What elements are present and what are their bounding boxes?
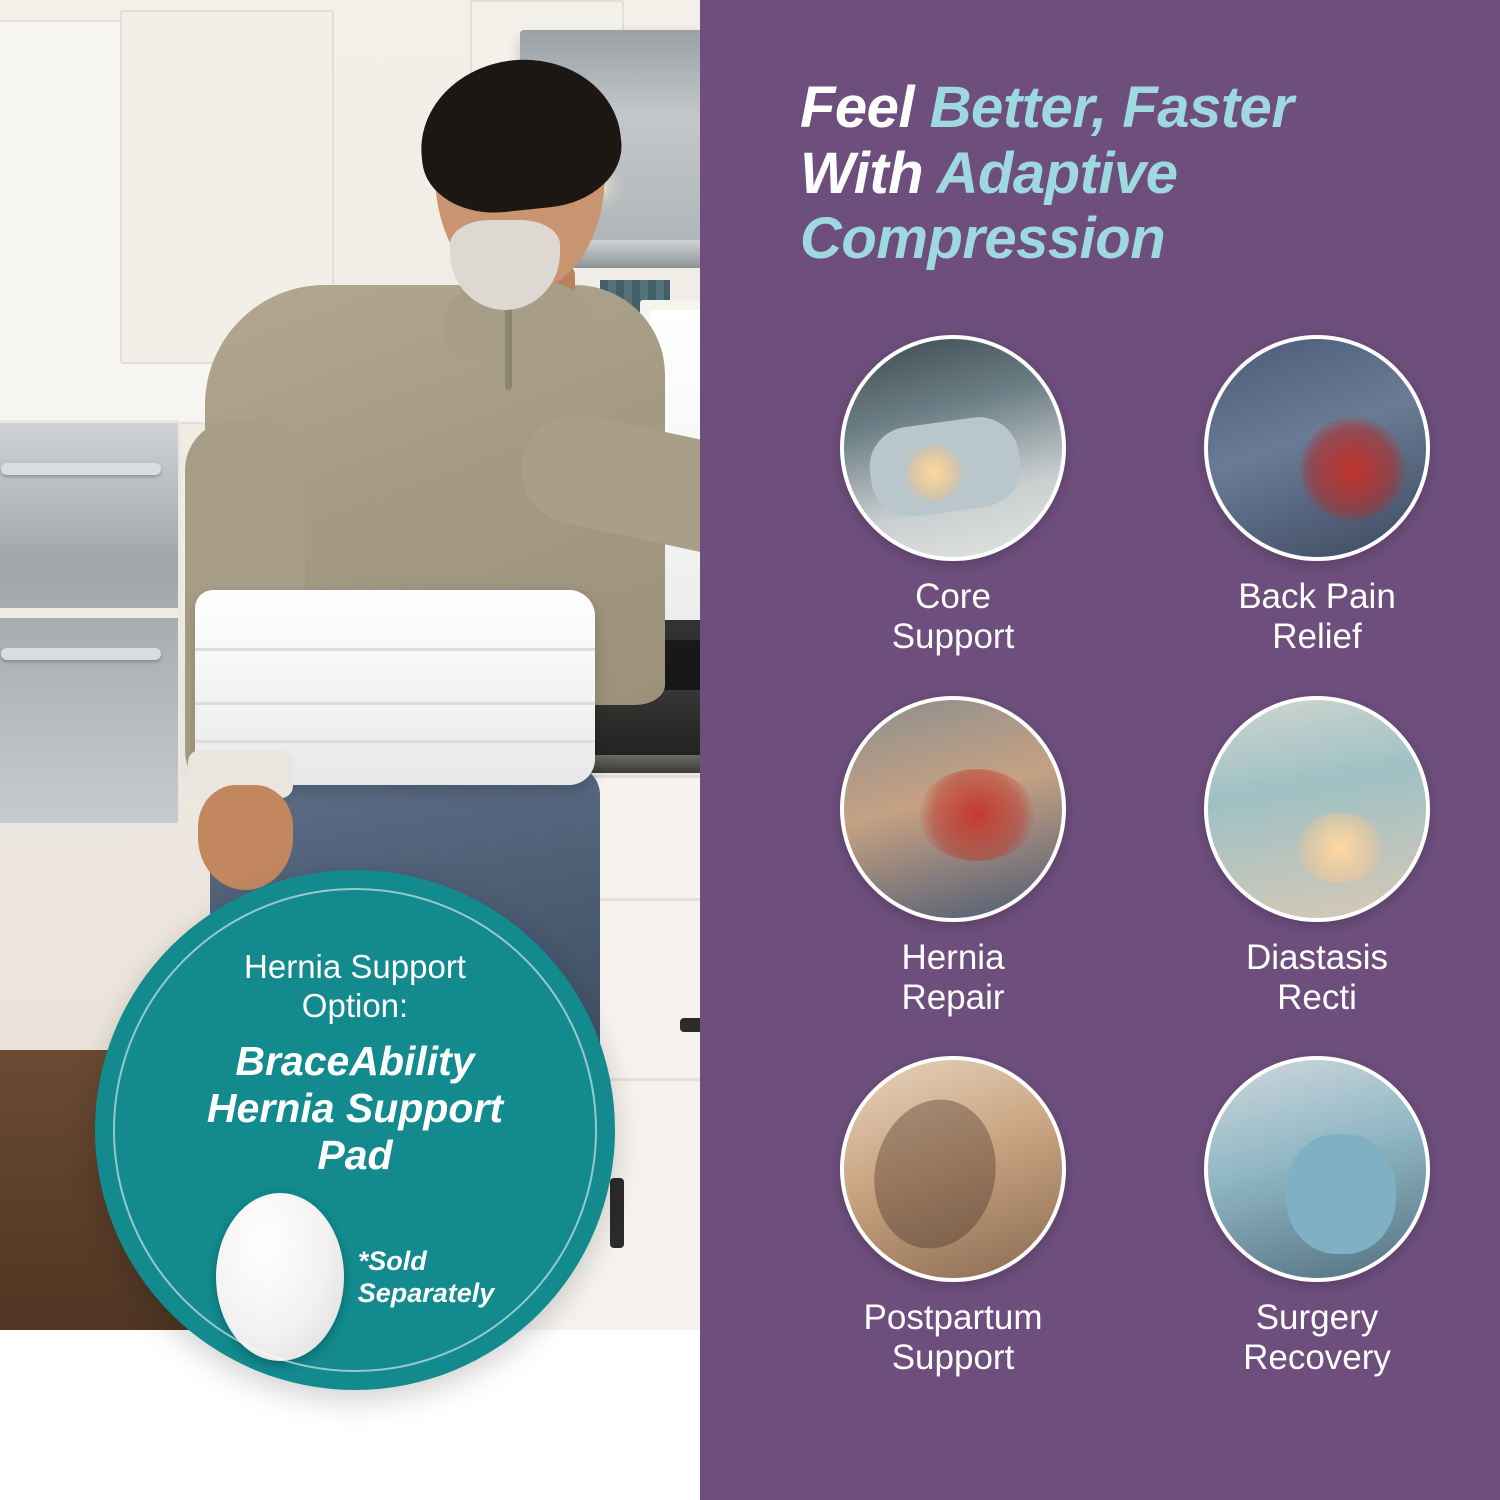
caption-line1: Core [892, 577, 1015, 617]
benefit-core-support: Core Support [790, 335, 1116, 658]
caption-line1: Postpartum [864, 1298, 1043, 1338]
benefit-caption-postpartum-support: Postpartum Support [864, 1298, 1043, 1379]
benefit-image-hernia-repair [840, 696, 1066, 922]
sold-separately-note: *Sold Separately [358, 1245, 495, 1310]
caption-line2: Recti [1246, 978, 1388, 1018]
binder-seam-1 [195, 648, 595, 651]
headline-line-3: Compression [800, 206, 1470, 272]
caption-line1: Surgery [1243, 1298, 1391, 1338]
headline-line-2: With Adaptive [800, 141, 1470, 207]
benefit-image-back-pain-relief [1204, 335, 1430, 561]
product-lifestyle-image: Hernia Support Option: BraceAbility Hern… [0, 0, 1500, 1500]
caption-line1: Hernia [901, 938, 1004, 978]
panel-content: Feel Better, Faster With Adaptive Compre… [700, 0, 1500, 1500]
caption-line1: Back Pain [1238, 577, 1396, 617]
caption-line2: Recovery [1243, 1338, 1391, 1378]
benefit-postpartum-support: Postpartum Support [790, 1056, 1116, 1379]
benefit-caption-hernia-repair: Hernia Repair [901, 938, 1004, 1019]
headline-line2-accent: Adaptive [937, 141, 1178, 206]
headline-line3-accent: Compression [800, 206, 1165, 271]
headline-line-1: Feel Better, Faster [800, 75, 1470, 141]
caption-line2: Support [864, 1338, 1043, 1378]
benefit-surgery-recovery: Surgery Recovery [1154, 1056, 1480, 1379]
benefit-image-diastasis-recti [1204, 696, 1430, 922]
benefit-hernia-repair: Hernia Repair [790, 696, 1116, 1019]
hernia-pad-image [216, 1193, 344, 1361]
caption-line2: Support [892, 617, 1015, 657]
caption-line1: Diastasis [1246, 938, 1388, 978]
benefit-image-postpartum-support [840, 1056, 1066, 1282]
badge-title-line2: Hernia Support [126, 1085, 584, 1132]
caption-line2: Relief [1238, 617, 1396, 657]
benefit-image-core-support [840, 335, 1066, 561]
benefit-caption-surgery-recovery: Surgery Recovery [1243, 1298, 1391, 1379]
headline-line2-plain: With [800, 141, 937, 206]
benefit-caption-diastasis-recti: Diastasis Recti [1246, 938, 1388, 1019]
hernia-pad-badge: Hernia Support Option: BraceAbility Hern… [95, 870, 615, 1390]
badge-title-line3: Pad [126, 1132, 584, 1179]
badge-top-line2: Option: [147, 987, 563, 1026]
model-left-hand [198, 785, 293, 890]
headline-line1-accent: Better, Faster [930, 75, 1294, 140]
benefit-diastasis-recti: Diastasis Recti [1154, 696, 1480, 1019]
headline-line1-plain: Feel [800, 75, 930, 140]
badge-top-line1: Hernia Support [147, 948, 563, 987]
quarter-zip [505, 305, 512, 390]
panel-headline: Feel Better, Faster With Adaptive Compre… [800, 75, 1470, 272]
benefits-panel: Feel Better, Faster With Adaptive Compre… [700, 0, 1500, 1500]
benefit-caption-back-pain-relief: Back Pain Relief [1238, 577, 1396, 658]
benefit-back-pain-relief: Back Pain Relief [1154, 335, 1480, 658]
benefits-grid: Core Support Back Pain Relief Hernia [790, 335, 1480, 1379]
benefit-caption-core-support: Core Support [892, 577, 1015, 658]
sold-separately-line1: *Sold [358, 1245, 495, 1277]
binder-seam-3 [195, 740, 595, 743]
binder-seam-2 [195, 702, 595, 705]
badge-title: BraceAbility Hernia Support Pad [126, 1038, 584, 1179]
badge-product-row: *Sold Separately [95, 1193, 615, 1361]
badge-title-line1: BraceAbility [126, 1038, 584, 1085]
badge-top-text: Hernia Support Option: [147, 948, 563, 1026]
benefit-image-surgery-recovery [1204, 1056, 1430, 1282]
caption-line2: Repair [901, 978, 1004, 1018]
sold-separately-line2: Separately [358, 1277, 495, 1309]
